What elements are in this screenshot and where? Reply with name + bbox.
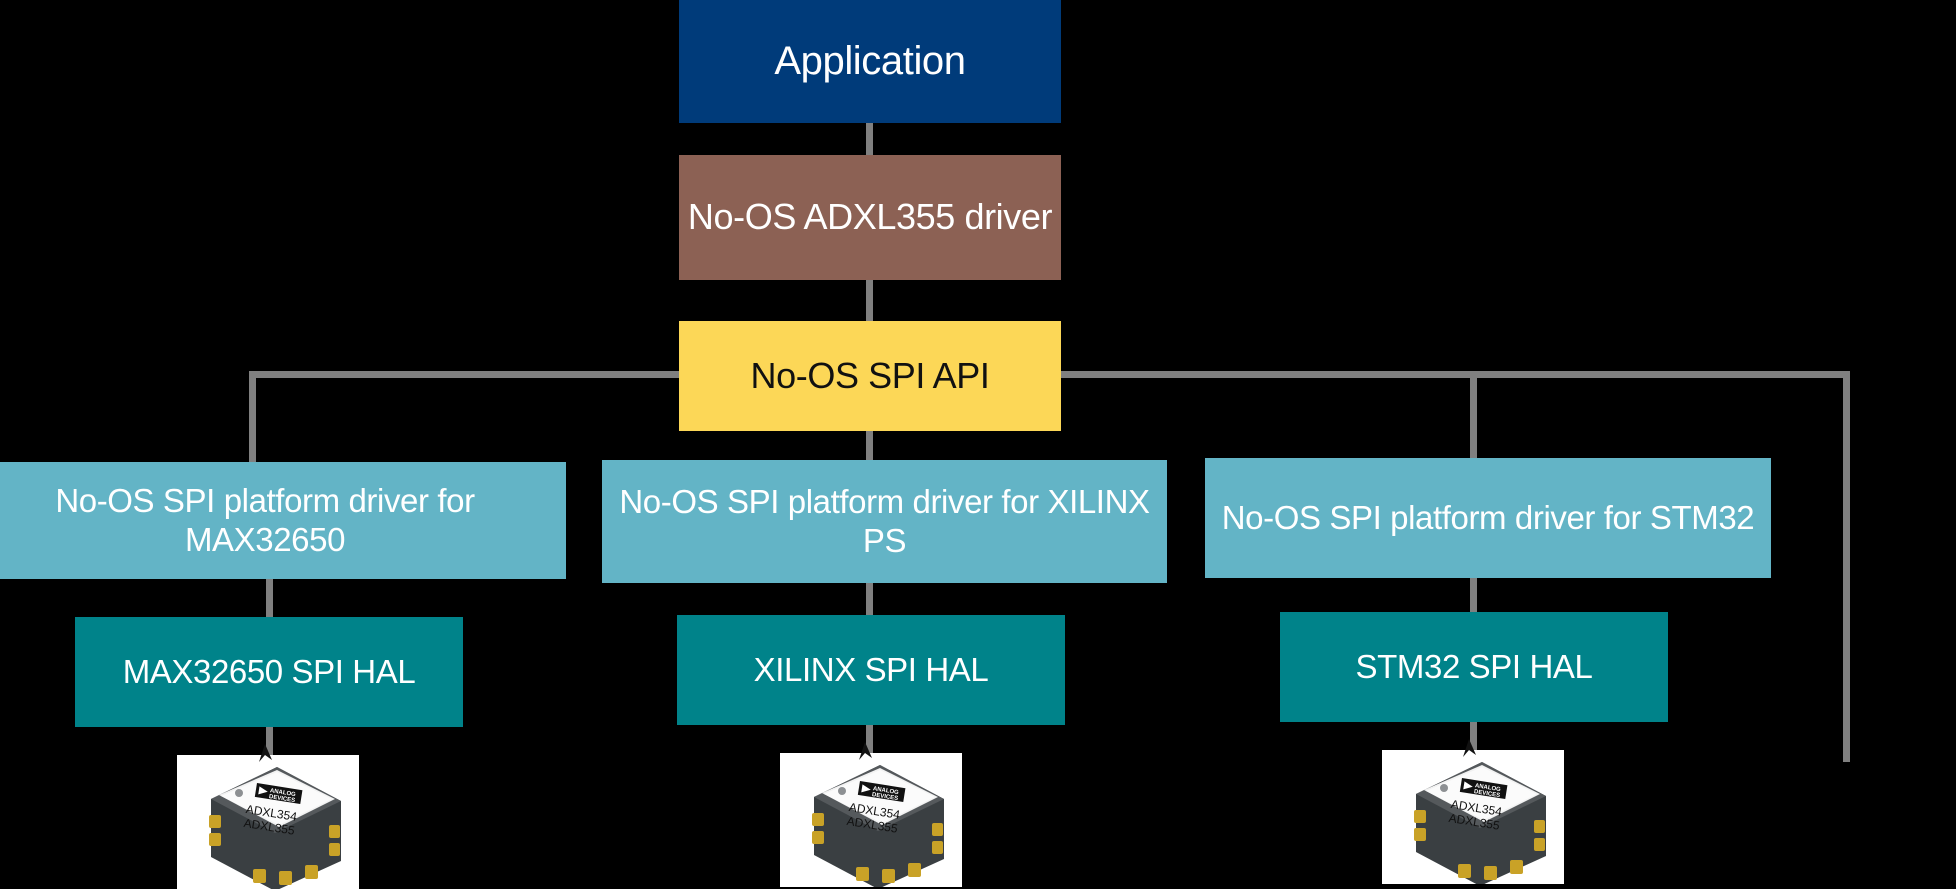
connector-max32650-platform-to-hal [266, 578, 273, 620]
connector-bus-drop-max32650 [249, 371, 256, 466]
node-hal-xilinx[interactable]: XILINX SPI HAL [677, 615, 1065, 725]
node-application[interactable]: Application [679, 0, 1061, 123]
connector-spi-api-bus-right [1060, 371, 1850, 378]
connector-adxl355-driver-to-spi-api [866, 280, 873, 323]
connector-application-to-adxl355-driver [866, 123, 873, 157]
connector-spi-api-bus-left [252, 371, 680, 378]
connector-stm32-platform-to-hal [1470, 578, 1477, 615]
node-spi-api[interactable]: No-OS SPI API [679, 321, 1061, 431]
adxl-chip-icon: ANALOG DEVICES ADXL354 ADXL355 [780, 753, 962, 887]
connector-spi-api-to-xilinx-platform [866, 430, 873, 462]
node-hal-max32650[interactable]: MAX32650 SPI HAL [75, 617, 463, 727]
arrow-into-stm32-chip-icon [1456, 739, 1482, 764]
arrow-into-xilinx-chip-icon [852, 742, 878, 767]
arrow-into-max32650-chip-icon [252, 744, 278, 769]
node-hal-stm32[interactable]: STM32 SPI HAL [1280, 612, 1668, 722]
connector-bus-drop-far-right [1843, 371, 1850, 762]
node-platform-driver-xilinx-ps[interactable]: No-OS SPI platform driver for XILINX PS [602, 460, 1167, 583]
node-platform-driver-max32650[interactable]: No-OS SPI platform driver for MAX32650 [0, 462, 566, 579]
node-platform-driver-stm32[interactable]: No-OS SPI platform driver for STM32 [1205, 458, 1771, 578]
chip-image-adxl354-adxl355-max32650: ANALOG DEVICES ADXL354 ADXL355 [177, 755, 359, 889]
diagram-canvas: Application No-OS ADXL355 driver No-OS S… [0, 0, 1956, 889]
connector-bus-drop-stm32 [1470, 371, 1477, 461]
adxl-chip-icon: ANALOG DEVICES ADXL354 ADXL355 [177, 755, 359, 889]
connector-xilinx-platform-to-hal [866, 583, 873, 618]
chip-image-adxl354-adxl355-stm32: ANALOG DEVICES ADXL354 ADXL355 [1382, 750, 1564, 884]
node-adxl355-driver[interactable]: No-OS ADXL355 driver [679, 155, 1061, 280]
chip-image-adxl354-adxl355-xilinx: ANALOG DEVICES ADXL354 ADXL355 [780, 753, 962, 887]
adxl-chip-icon: ANALOG DEVICES ADXL354 ADXL355 [1382, 750, 1564, 884]
